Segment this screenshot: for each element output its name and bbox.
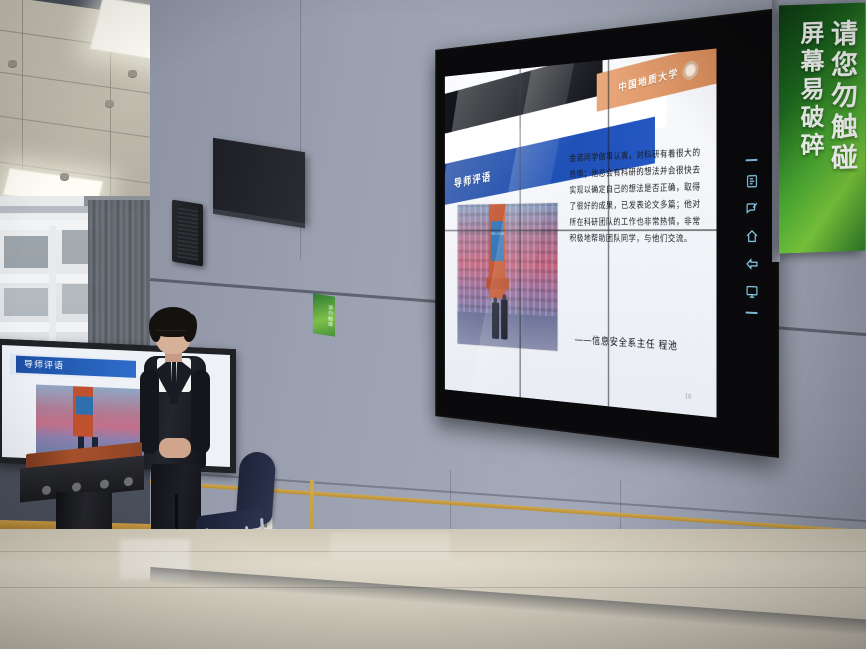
back-arrow-icon[interactable]: [745, 257, 758, 272]
presentation-slide: 中国地质大学 导师评语 WELCOME 金诺同学做事认真，对科研有着很大的热情；…: [445, 48, 717, 417]
wall-warning-sign: 请勿触摸: [313, 293, 335, 336]
green-sign-line-left: 屏幕易破碎: [795, 20, 823, 253]
green-warning-sign: 请您勿触碰 屏幕易破碎: [779, 2, 865, 253]
lectern-button[interactable]: [100, 479, 109, 489]
presenter-arm-right: [191, 370, 210, 454]
photo-scene: 请勿触摸 导师评语 中国地质大学: [0, 0, 866, 649]
sprinkler-1: [128, 70, 137, 77]
tile-seam-v-2: [608, 60, 609, 407]
photo-banner-text: WELCOME: [491, 231, 504, 235]
sprinkler-4: [60, 173, 69, 180]
tile-seam-h-1: [445, 229, 717, 231]
screen-control-strip[interactable]: [737, 159, 767, 315]
sprinkler-3: [8, 60, 17, 67]
dash-icon: [745, 159, 757, 161]
slide-signature: ——信息安全系主任 程池: [575, 332, 678, 353]
green-sign-line-right: 请您勿触碰: [826, 19, 857, 252]
annotate-icon[interactable]: [745, 201, 758, 216]
university-seal-icon: [683, 59, 698, 81]
wall-speaker: [172, 200, 203, 267]
sprinkler-2: [105, 100, 114, 107]
speaker-grill: [177, 205, 198, 260]
video-wall-screen[interactable]: 中国地质大学 导师评语 WELCOME 金诺同学做事认真，对科研有着很大的热情；…: [445, 48, 717, 417]
lectern-button[interactable]: [72, 482, 81, 492]
slide-page-number: 18: [685, 393, 691, 400]
presenter-glasses: [156, 330, 186, 338]
presenter-hair-side-left: [149, 316, 161, 342]
presenter-arm-left: [140, 370, 159, 454]
photo-person-1: [492, 302, 499, 339]
presenter-hands: [159, 438, 191, 458]
lectern-button[interactable]: [42, 485, 51, 495]
home-icon[interactable]: [745, 229, 758, 244]
photo-banner: WELCOME: [491, 221, 504, 261]
note-icon[interactable]: [745, 174, 758, 189]
slide-body-text: 金诺同学做事认真，对科研有着很大的热情；他总会有科研的想法并会很快去实现以确定自…: [569, 145, 700, 248]
pc-source-icon[interactable]: [745, 284, 758, 299]
lectern-button[interactable]: [124, 477, 133, 487]
photo-person-2: [501, 299, 508, 339]
floor-reflection: [330, 533, 450, 559]
university-name: 中国地质大学: [618, 65, 679, 95]
exterior-pole: [49, 226, 56, 344]
wall-mounted-display: [213, 138, 305, 225]
slide-photo: WELCOME: [458, 203, 558, 351]
photo-tower-beam: [486, 278, 509, 290]
tile-seam-v-1: [520, 69, 521, 398]
video-wall[interactable]: 中国地质大学 导师评语 WELCOME 金诺同学做事认真，对科研有着很大的热情；…: [435, 8, 779, 458]
